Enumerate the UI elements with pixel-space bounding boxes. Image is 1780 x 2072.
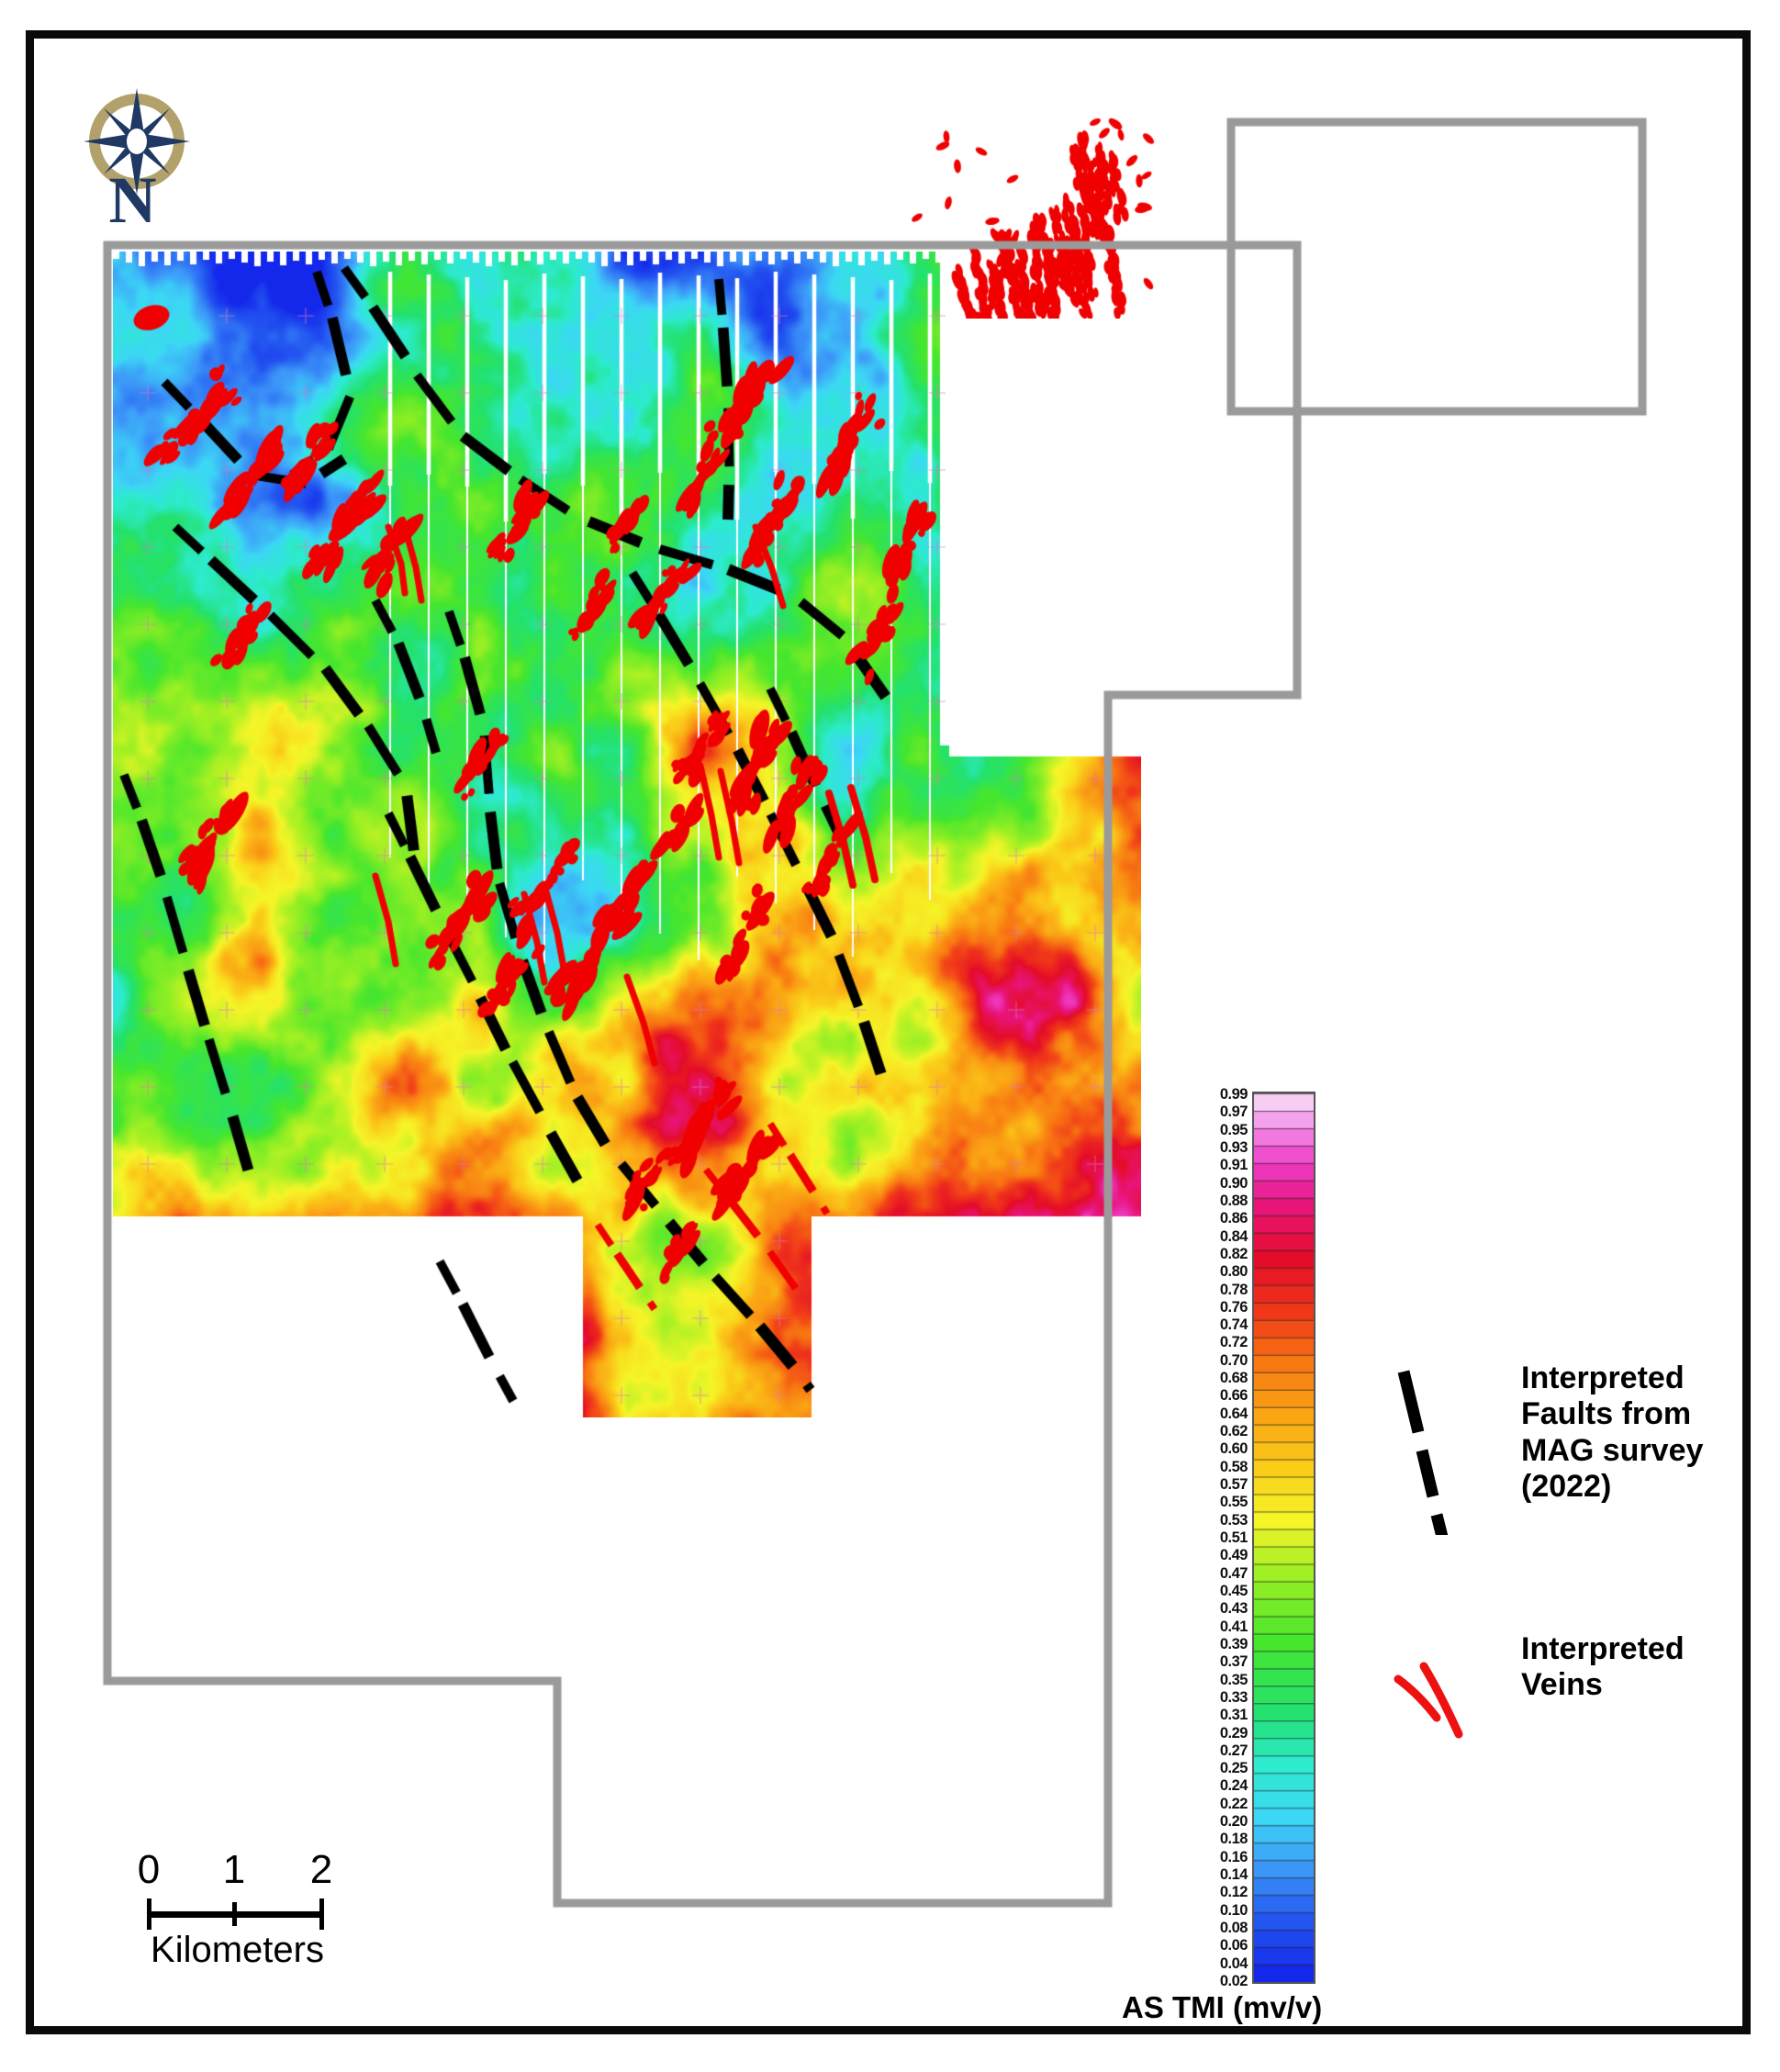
colorbar-tick: 0.82 [1220, 1247, 1248, 1262]
legend-item-veins: Interpreted Veins [1393, 1622, 1760, 1787]
scale-bar-units: Kilometers [129, 1930, 345, 1971]
north-label: N [89, 167, 176, 233]
colorbar-tick: 0.90 [1220, 1176, 1248, 1192]
colorbar-tick: 0.06 [1220, 1938, 1248, 1954]
colorbar-tick: 0.35 [1220, 1673, 1248, 1688]
colorbar-tick: 0.78 [1220, 1282, 1248, 1298]
colorbar-title: AS TMI (mv/v) [1122, 1990, 1322, 2025]
colorbar-tick: 0.02 [1220, 1974, 1248, 1989]
colorbar-tick: 0.58 [1220, 1460, 1248, 1475]
colorbar-tick: 0.31 [1220, 1708, 1248, 1723]
colorbar-tick: 0.10 [1220, 1903, 1248, 1919]
colorbar-tick: 0.39 [1220, 1637, 1248, 1652]
colorbar-tick: 0.95 [1220, 1123, 1248, 1138]
colorbar-tick: 0.68 [1220, 1371, 1248, 1386]
colorbar-tick: 0.55 [1220, 1495, 1248, 1510]
colorbar-tick: 0.84 [1220, 1229, 1248, 1245]
colorbar-tick: 0.45 [1220, 1584, 1248, 1599]
map-frame: N Property Boundary 0.990.970.950.930.91… [26, 30, 1751, 2034]
colorbar [1252, 1092, 1315, 1984]
colorbar-tick: 0.33 [1220, 1690, 1248, 1706]
colorbar-tick: 0.41 [1220, 1619, 1248, 1635]
colorbar-tick: 0.12 [1220, 1885, 1248, 1900]
colorbar-tick: 0.24 [1220, 1778, 1248, 1794]
colorbar-tick: 0.97 [1220, 1104, 1248, 1120]
colorbar-tick: 0.57 [1220, 1477, 1248, 1493]
colorbar-tick: 0.29 [1220, 1726, 1248, 1742]
colorbar-tick: 0.66 [1220, 1388, 1248, 1404]
colorbar-tick: 0.99 [1220, 1087, 1248, 1103]
tmi-heatmap-canvas [113, 252, 1141, 1417]
colorbar-tick: 0.86 [1220, 1211, 1248, 1226]
scale-bar: 012 Kilometers [133, 1847, 427, 1971]
colorbar-tick: 0.27 [1220, 1743, 1248, 1759]
inset-map[interactable] [858, 89, 1170, 319]
colorbar-tick: 0.22 [1220, 1797, 1248, 1812]
scale-bar-ticks: 012 [133, 1847, 427, 1895]
scale-bar-graphic [133, 1898, 427, 1930]
colorbar-tick: 0.80 [1220, 1264, 1248, 1280]
colorbar-tick: 0.53 [1220, 1513, 1248, 1529]
colorbar-tick: 0.64 [1220, 1406, 1248, 1422]
colorbar-tick: 0.08 [1220, 1921, 1248, 1936]
colorbar-tick: 0.60 [1220, 1441, 1248, 1457]
colorbar-tick: 0.43 [1220, 1601, 1248, 1617]
inset-veins-canvas [858, 89, 1170, 319]
colorbar-tick: 0.47 [1220, 1566, 1248, 1582]
colorbar-tick: 0.76 [1220, 1300, 1248, 1316]
scale-tick-label: 1 [223, 1847, 245, 1893]
colorbar-tick: 0.20 [1220, 1814, 1248, 1830]
scale-tick-label: 2 [310, 1847, 332, 1893]
colorbar-tick: 0.49 [1220, 1548, 1248, 1563]
legend-item-faults-label: Interpreted Faults from MAG survey (2022… [1521, 1361, 1760, 1506]
colorbar-tick: 0.88 [1220, 1193, 1248, 1209]
colorbar-tick: 0.04 [1220, 1956, 1248, 1972]
legend-item-faults: Interpreted Faults from MAG survey (2022… [1393, 1361, 1760, 1572]
colorbar-tick: 0.70 [1220, 1353, 1248, 1369]
colorbar-tick-labels: 0.990.970.950.930.910.900.880.860.840.82… [1183, 1087, 1248, 1988]
legend: Interpreted Faults from MAG survey (2022… [1393, 1361, 1760, 1787]
colorbar-tick: 0.16 [1220, 1850, 1248, 1865]
colorbar-tick: 0.37 [1220, 1654, 1248, 1670]
colorbar-tick: 0.62 [1220, 1424, 1248, 1439]
colorbar-tick: 0.51 [1220, 1530, 1248, 1546]
colorbar-tick: 0.91 [1220, 1158, 1248, 1173]
dashed-black-line-icon [1393, 1361, 1503, 1535]
colorbar-tick: 0.74 [1220, 1317, 1248, 1333]
legend-item-veins-label: Interpreted Veins [1521, 1631, 1760, 1704]
colorbar-tick: 0.25 [1220, 1761, 1248, 1776]
colorbar-tick: 0.72 [1220, 1335, 1248, 1350]
magnetic-survey-map[interactable] [113, 252, 1141, 1417]
colorbar-tick: 0.14 [1220, 1867, 1248, 1883]
scale-tick-label: 0 [138, 1847, 160, 1893]
red-vein-lines-icon [1393, 1622, 1503, 1751]
colorbar-tick: 0.93 [1220, 1140, 1248, 1156]
colorbar-tick: 0.18 [1220, 1831, 1248, 1847]
